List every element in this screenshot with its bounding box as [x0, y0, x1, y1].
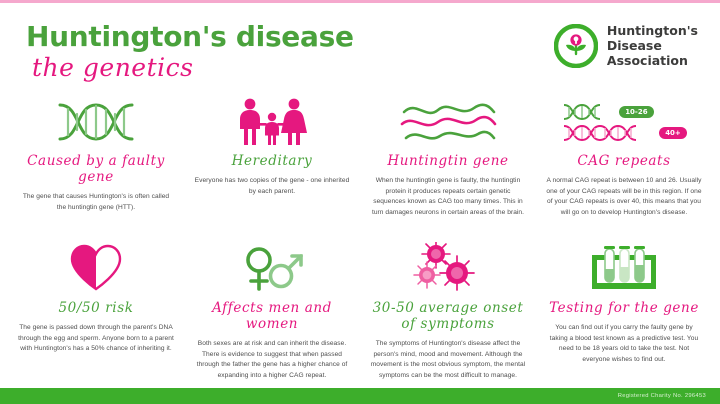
- panel-heading: 50/50 risk: [58, 301, 133, 317]
- cag-normal-row: 10-26: [561, 103, 653, 121]
- panel-body: The gene is passed down through the pare…: [18, 323, 174, 355]
- cag-badge-normal: 10-26: [619, 106, 653, 118]
- cag-expanded-row: 40+: [561, 124, 687, 142]
- organisation-logo: Huntington's Disease Association: [554, 24, 698, 68]
- cag-repeat-strands-icon: 10-26: [546, 94, 702, 150]
- panel-fifty-fifty-risk: 50/50 risk The gene is passed down throu…: [8, 237, 184, 382]
- panel-heading: Affects men and women: [194, 301, 350, 333]
- panel-hereditary: Hereditary Everyone has two copies of th…: [184, 92, 360, 237]
- male-female-gender-symbols-icon: [194, 239, 350, 297]
- panel-body: Everyone has two copies of the gene - on…: [194, 176, 350, 197]
- logo-line-2: Disease: [607, 38, 662, 53]
- cag-badge-expanded: 40+: [659, 127, 687, 139]
- charity-registration-text: Registered Charity No. 296453: [618, 393, 706, 399]
- panel-body: The symptoms of Huntington's disease aff…: [370, 339, 526, 382]
- huntingtons-flower-logo-icon: [554, 24, 598, 68]
- panel-body: A normal CAG repeat is between 10 and 26…: [546, 176, 702, 219]
- panel-caused-by-faulty-gene: Caused by a faulty gene The gene that ca…: [8, 92, 184, 237]
- panel-heading: Huntingtin gene: [387, 154, 508, 170]
- panel-body: Both sexes are at risk and can inherit t…: [194, 339, 350, 382]
- panel-testing-for-the-gene: Testing for the gene You can find out if…: [536, 237, 712, 382]
- panel-affects-men-and-women: Affects men and women Both sexes are at …: [184, 237, 360, 382]
- family-group-icon: [194, 94, 350, 150]
- panel-huntingtin-gene: Huntingtin gene When the huntingtin gene…: [360, 92, 536, 237]
- panel-onset-of-symptoms: 30-50 average onset of symptoms The symp…: [360, 237, 536, 382]
- panel-heading: CAG repeats: [577, 154, 670, 170]
- panel-grid: Caused by a faulty gene The gene that ca…: [0, 92, 720, 388]
- neuron-cells-cluster-icon: [370, 239, 526, 297]
- panel-heading: Hereditary: [232, 154, 313, 170]
- panel-body: The gene that causes Huntington's is oft…: [18, 192, 174, 213]
- panel-body: You can find out if you carry the faulty…: [546, 323, 702, 366]
- title-block: Huntington's disease the genetics: [26, 22, 354, 82]
- poster-footer: Registered Charity No. 296453: [0, 388, 720, 404]
- protein-squiggle-icon: [370, 94, 526, 150]
- dna-helix-icon: [18, 94, 174, 150]
- logo-wordmark: Huntington's Disease Association: [607, 24, 698, 68]
- panel-cag-repeats: 10-26: [536, 92, 712, 237]
- infographic-poster: Huntington's disease the genetics Huntin…: [0, 0, 720, 404]
- logo-line-1: Huntington's: [607, 23, 698, 38]
- panel-heading: Testing for the gene: [549, 301, 699, 317]
- logo-line-3: Association: [607, 53, 688, 68]
- page-title: Huntington's disease: [26, 22, 354, 51]
- panel-heading: Caused by a faulty gene: [18, 154, 174, 186]
- panel-body: When the huntingtin gene is faulty, the …: [370, 176, 526, 219]
- page-subtitle: the genetics: [32, 55, 354, 81]
- panel-heading: 30-50 average onset of symptoms: [370, 301, 526, 333]
- poster-header: Huntington's disease the genetics Huntin…: [0, 0, 720, 92]
- half-filled-heart-icon: [18, 239, 174, 297]
- test-tube-rack-icon: [546, 239, 702, 297]
